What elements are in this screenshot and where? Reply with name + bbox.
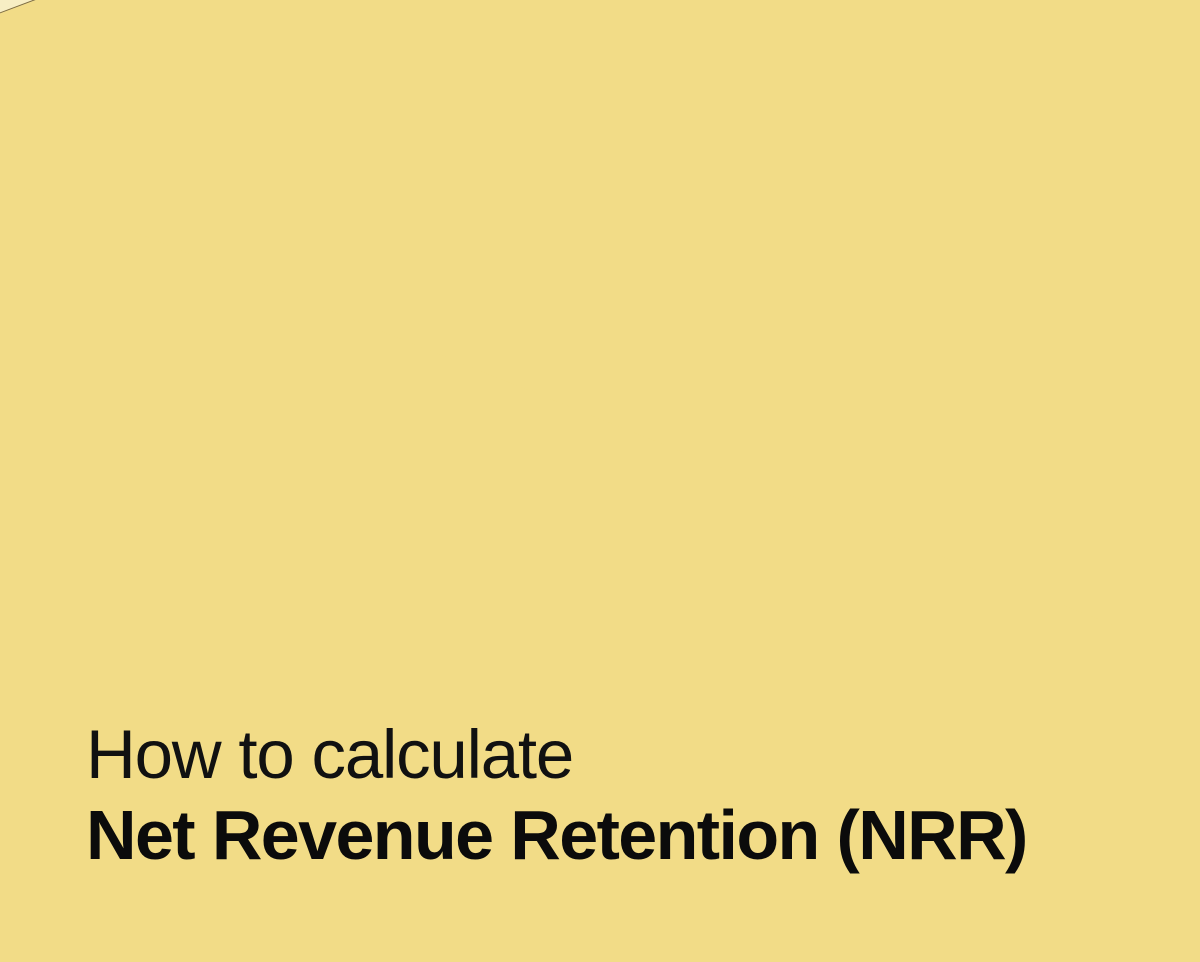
table-row[interactable]: 117% — [0, 0, 1095, 31]
row-label — [0, 0, 92, 31]
title-block: How to calculate Net Revenue Retention (… — [86, 720, 1166, 874]
cohort-retention-table[interactable]: Average €8,800 100% 100% 100% 100% 100% … — [0, 0, 1096, 32]
page-title-kicker: How to calculate — [86, 720, 1166, 790]
table-body: Average €8,800 100% 100% 100% 100% 100% … — [0, 0, 1095, 31]
page-title-main: Net Revenue Retention (NRR) — [86, 798, 1166, 874]
